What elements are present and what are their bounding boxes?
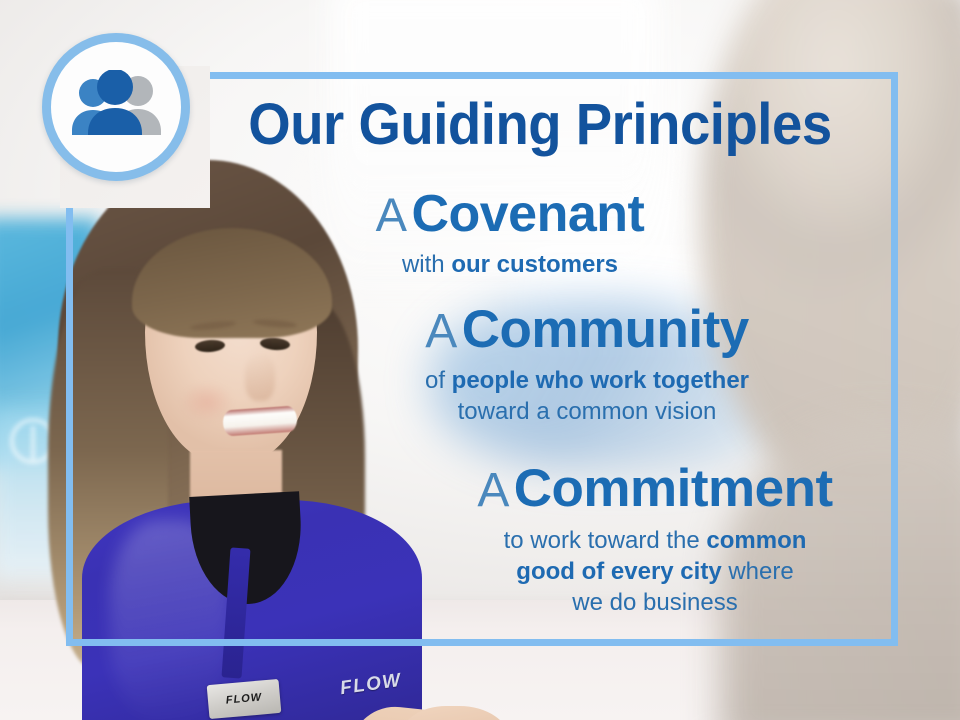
principle-word-covenant: Covenant bbox=[411, 185, 644, 243]
plain-run: with bbox=[402, 251, 451, 278]
principle-article-community: A bbox=[425, 305, 457, 358]
emphasis-run: good of every city bbox=[516, 558, 721, 585]
principle-heading-covenant: A Covenant bbox=[300, 188, 720, 241]
plain-run: to work toward the bbox=[504, 527, 707, 554]
text-content-layer: Our Guiding Principles A Covenant with o… bbox=[0, 0, 960, 720]
principle-block-covenant: A Covenant with our customers bbox=[300, 188, 720, 281]
principle-subtext-community: of people who work togethertoward a comm… bbox=[352, 366, 822, 427]
plain-run: where bbox=[722, 558, 794, 585]
principle-subtext-line: to work toward the common bbox=[420, 525, 890, 556]
principle-word-community: Community bbox=[462, 300, 749, 359]
plain-run: toward a common vision bbox=[458, 398, 717, 425]
principle-word-commitment: Commitment bbox=[514, 459, 833, 518]
emphasis-run: common bbox=[706, 527, 806, 554]
guiding-principles-graphic: FLOW FLOW Our Guiding Pri bbox=[0, 0, 960, 720]
page-title: Our Guiding Principles bbox=[230, 96, 850, 154]
principle-block-commitment: A Commitment to work toward the commongo… bbox=[420, 462, 890, 619]
emphasis-run: our customers bbox=[451, 251, 618, 278]
principle-block-community: A Community of people who work togethert… bbox=[352, 303, 822, 427]
principle-article-covenant: A bbox=[376, 188, 407, 241]
principle-subtext-commitment: to work toward the commongood of every c… bbox=[420, 525, 890, 619]
plain-run: we do business bbox=[572, 589, 737, 616]
principle-heading-community: A Community bbox=[352, 303, 822, 357]
principle-article-commitment: A bbox=[477, 464, 509, 517]
plain-run: of bbox=[425, 367, 452, 394]
emphasis-run: people who work together bbox=[452, 367, 749, 394]
principle-subtext-covenant: with our customers bbox=[300, 250, 720, 281]
principle-heading-commitment: A Commitment bbox=[420, 462, 890, 516]
principle-subtext-line: of people who work together bbox=[352, 366, 822, 397]
principle-subtext-line: good of every city where bbox=[420, 556, 890, 587]
principle-subtext-line: we do business bbox=[420, 587, 890, 618]
principle-subtext-line: toward a common vision bbox=[352, 397, 822, 428]
principle-subtext-line: with our customers bbox=[300, 250, 720, 281]
